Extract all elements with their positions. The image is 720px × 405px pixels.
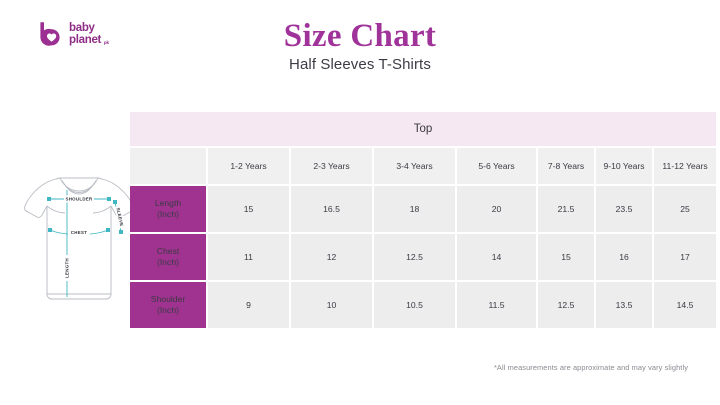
column-header-5: 7-8 Years [538, 148, 596, 186]
table-row-shoulder: Shoulder (Inch) 9 10 10.5 11.5 12.5 13.5… [130, 282, 716, 328]
row-label-shoulder-line2: (Inch) [130, 305, 206, 316]
tshirt-measurement-diagram: SHOULDER CHEST LENGTH SLEEVE [20, 168, 138, 310]
row-label-chest-line1: Chest [130, 246, 206, 257]
table-corner-cell [130, 148, 208, 186]
cell-chest-3: 12.5 [374, 234, 457, 282]
page-title: Size Chart [0, 18, 720, 55]
diagram-label-shoulder: SHOULDER [65, 197, 93, 202]
cell-shoulder-2: 10 [291, 282, 374, 328]
row-label-length-line2: (Inch) [130, 209, 206, 220]
page-subtitle: Half Sleeves T-Shirts [0, 56, 720, 73]
cell-shoulder-3: 10.5 [374, 282, 457, 328]
row-label-shoulder: Shoulder (Inch) [130, 282, 208, 328]
row-label-length-line1: Length [130, 198, 206, 209]
size-chart-table: Top 1-2 Years 2-3 Years 3-4 Years 5-6 Ye… [130, 112, 716, 328]
column-header-1: 1-2 Years [208, 148, 291, 186]
cell-length-6: 23.5 [596, 186, 654, 234]
cell-length-2: 16.5 [291, 186, 374, 234]
cell-chest-1: 11 [208, 234, 291, 282]
cell-chest-4: 14 [457, 234, 538, 282]
cell-shoulder-7: 14.5 [654, 282, 716, 328]
cell-shoulder-6: 13.5 [596, 282, 654, 328]
row-label-length: Length (Inch) [130, 186, 208, 234]
cell-shoulder-1: 9 [208, 282, 291, 328]
cell-length-4: 20 [457, 186, 538, 234]
cell-chest-2: 12 [291, 234, 374, 282]
column-header-3: 3-4 Years [374, 148, 457, 186]
cell-length-1: 15 [208, 186, 291, 234]
column-header-2: 2-3 Years [291, 148, 374, 186]
cell-length-5: 21.5 [538, 186, 596, 234]
row-label-chest: Chest (Inch) [130, 234, 208, 282]
table-banner-cell: Top [130, 112, 716, 148]
cell-length-7: 25 [654, 186, 716, 234]
column-header-4: 5-6 Years [457, 148, 538, 186]
cell-chest-7: 17 [654, 234, 716, 282]
row-label-shoulder-line1: Shoulder [130, 294, 206, 305]
table-row-length: Length (Inch) 15 16.5 18 20 21.5 23.5 25 [130, 186, 716, 234]
table-banner-row: Top [130, 112, 716, 148]
cell-chest-5: 15 [538, 234, 596, 282]
column-header-7: 11-12 Years [654, 148, 716, 186]
diagram-label-length: LENGTH [65, 258, 70, 278]
footnote-text: *All measurements are approximate and ma… [494, 363, 688, 372]
column-header-6: 9-10 Years [596, 148, 654, 186]
cell-shoulder-4: 11.5 [457, 282, 538, 328]
diagram-label-chest: CHEST [71, 230, 87, 235]
cell-chest-6: 16 [596, 234, 654, 282]
row-label-chest-line2: (Inch) [130, 257, 206, 268]
table-row-chest: Chest (Inch) 11 12 12.5 14 15 16 17 [130, 234, 716, 282]
table-header-row: 1-2 Years 2-3 Years 3-4 Years 5-6 Years … [130, 148, 716, 186]
cell-shoulder-5: 12.5 [538, 282, 596, 328]
cell-length-3: 18 [374, 186, 457, 234]
